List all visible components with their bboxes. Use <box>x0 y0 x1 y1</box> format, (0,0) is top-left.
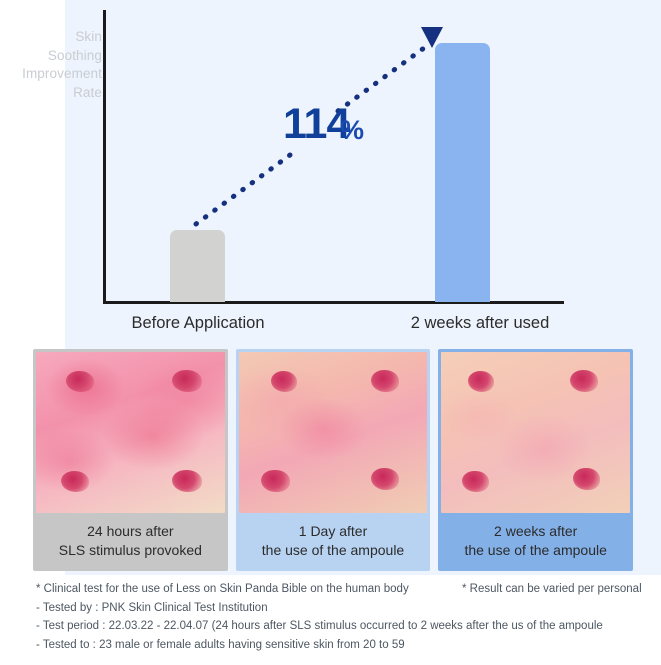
skin-photo-24-hours <box>36 352 225 513</box>
y-axis-label-line-3: Improvement <box>2 65 102 84</box>
card-24-hours-after-sls: 24 hours after SLS stimulus provoked <box>33 349 228 571</box>
bar-2-weeks-after-used <box>435 43 490 302</box>
clinical-test-notes: * Clinical test for the use of Less on S… <box>36 580 466 654</box>
clinical-photo-cards: 24 hours after SLS stimulus provoked 1 D… <box>33 349 633 571</box>
y-axis-line <box>103 10 106 304</box>
card-caption-line-1: 1 Day after <box>299 522 367 541</box>
card-caption-24-hours: 24 hours after SLS stimulus provoked <box>33 513 228 571</box>
skin-photo-1-day <box>239 352 428 513</box>
card-caption-line-2: the use of the ampoule <box>464 541 606 560</box>
card-caption-2-weeks: 2 weeks after the use of the ampoule <box>438 513 633 571</box>
note-line-2: - Tested by : PNK Skin Clinical Test Ins… <box>36 599 466 618</box>
bar-before-application <box>170 230 225 302</box>
skin-photo-2-weeks <box>441 352 630 513</box>
card-2-weeks-after: 2 weeks after the use of the ampoule <box>438 349 633 571</box>
card-caption-line-2: the use of the ampoule <box>262 541 404 560</box>
card-caption-line-1: 24 hours after <box>87 522 173 541</box>
disclaimer-note: * Result can be varied per personal <box>462 580 642 599</box>
improvement-bar-chart: Skin Soothing Improvement Rate 114 % Bef… <box>0 0 661 340</box>
y-axis-label-line-4: Rate <box>2 84 102 103</box>
improvement-percentage-sign: % <box>340 117 364 144</box>
y-axis-label-line-2: Soothing <box>2 47 102 66</box>
y-axis-label-line-1: Skin <box>2 28 102 47</box>
card-1-day-after: 1 Day after the use of the ampoule <box>236 349 431 571</box>
card-caption-line-2: SLS stimulus provoked <box>59 541 202 560</box>
note-line-1: * Clinical test for the use of Less on S… <box>36 580 466 599</box>
card-caption-1-day: 1 Day after the use of the ampoule <box>236 513 431 571</box>
note-line-4: - Tested to : 23 male or female adults h… <box>36 636 656 655</box>
y-axis-label: Skin Soothing Improvement Rate <box>2 28 102 102</box>
card-caption-line-1: 2 weeks after <box>494 522 577 541</box>
bar-label-before-application: Before Application <box>118 314 278 333</box>
bar-label-2-weeks-after: 2 weeks after used <box>398 314 562 333</box>
note-line-3: - Test period : 22.03.22 - 22.04.07 (24 … <box>36 617 656 636</box>
